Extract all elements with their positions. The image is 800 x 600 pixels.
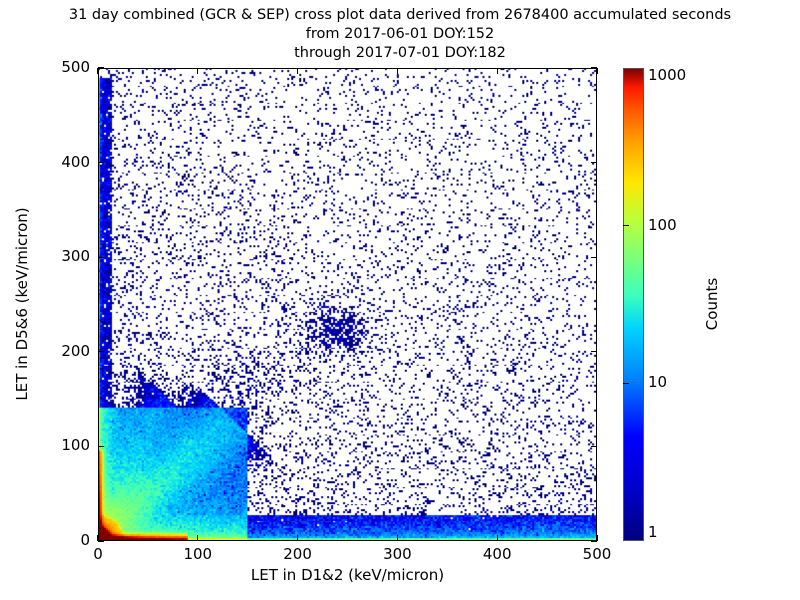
x-tick-label: 300 bbox=[362, 545, 432, 563]
y-tick-mark bbox=[98, 351, 104, 352]
chart-title: 31 day combined (GCR & SEP) cross plot d… bbox=[0, 6, 800, 63]
colorbar-tick-label: 100 bbox=[648, 216, 677, 234]
x-tick-label: 500 bbox=[562, 545, 632, 563]
y-tick-label: 300 bbox=[42, 247, 90, 265]
plot-area bbox=[98, 68, 597, 541]
colorbar-tick-mark bbox=[623, 225, 629, 226]
y-tick-mark bbox=[98, 257, 104, 258]
x-tick-label: 200 bbox=[263, 545, 333, 563]
scatter-density-plot bbox=[99, 69, 596, 540]
colorbar-gradient bbox=[623, 68, 644, 541]
y-tick-label: 200 bbox=[42, 342, 90, 360]
y-tick-label: 500 bbox=[42, 58, 90, 76]
y-tick-mark bbox=[591, 540, 597, 541]
colorbar-tick-mark bbox=[623, 383, 629, 384]
x-tick-mark bbox=[497, 535, 498, 541]
y-axis-label: LET in D5&6 (keV/micron) bbox=[13, 207, 31, 400]
x-tick-label: 400 bbox=[462, 545, 532, 563]
y-tick-mark bbox=[98, 162, 104, 163]
colorbar-tick-label: 10 bbox=[648, 373, 667, 391]
y-tick-label: 0 bbox=[42, 531, 90, 549]
y-tick-mark bbox=[591, 257, 597, 258]
y-tick-mark bbox=[591, 162, 597, 163]
y-tick-label: 400 bbox=[42, 153, 90, 171]
y-tick-mark bbox=[98, 67, 104, 68]
x-tick-mark bbox=[397, 535, 398, 541]
colorbar bbox=[623, 68, 644, 541]
x-tick-mark bbox=[397, 68, 398, 74]
x-tick-label: 100 bbox=[163, 545, 233, 563]
y-tick-mark bbox=[591, 446, 597, 447]
x-tick-mark bbox=[97, 68, 98, 74]
colorbar-label: Counts bbox=[703, 278, 721, 330]
y-tick-mark bbox=[591, 351, 597, 352]
title-line-1: 31 day combined (GCR & SEP) cross plot d… bbox=[0, 6, 800, 25]
x-tick-mark bbox=[596, 68, 597, 74]
colorbar-tick-label: 1 bbox=[648, 523, 658, 541]
y-tick-label: 100 bbox=[42, 436, 90, 454]
title-line-3: through 2017-07-01 DOY:182 bbox=[0, 44, 800, 63]
x-tick-mark bbox=[297, 535, 298, 541]
y-tick-mark bbox=[591, 67, 597, 68]
x-tick-mark bbox=[497, 68, 498, 74]
figure-canvas: 31 day combined (GCR & SEP) cross plot d… bbox=[0, 0, 800, 600]
x-tick-mark bbox=[197, 68, 198, 74]
x-tick-mark bbox=[197, 535, 198, 541]
y-tick-mark bbox=[98, 446, 104, 447]
x-tick-mark bbox=[297, 68, 298, 74]
x-axis-label: LET in D1&2 (keV/micron) bbox=[98, 566, 597, 584]
colorbar-tick-label: 1000 bbox=[648, 66, 686, 84]
y-tick-mark bbox=[98, 540, 104, 541]
title-line-2: from 2017-06-01 DOY:152 bbox=[0, 25, 800, 44]
